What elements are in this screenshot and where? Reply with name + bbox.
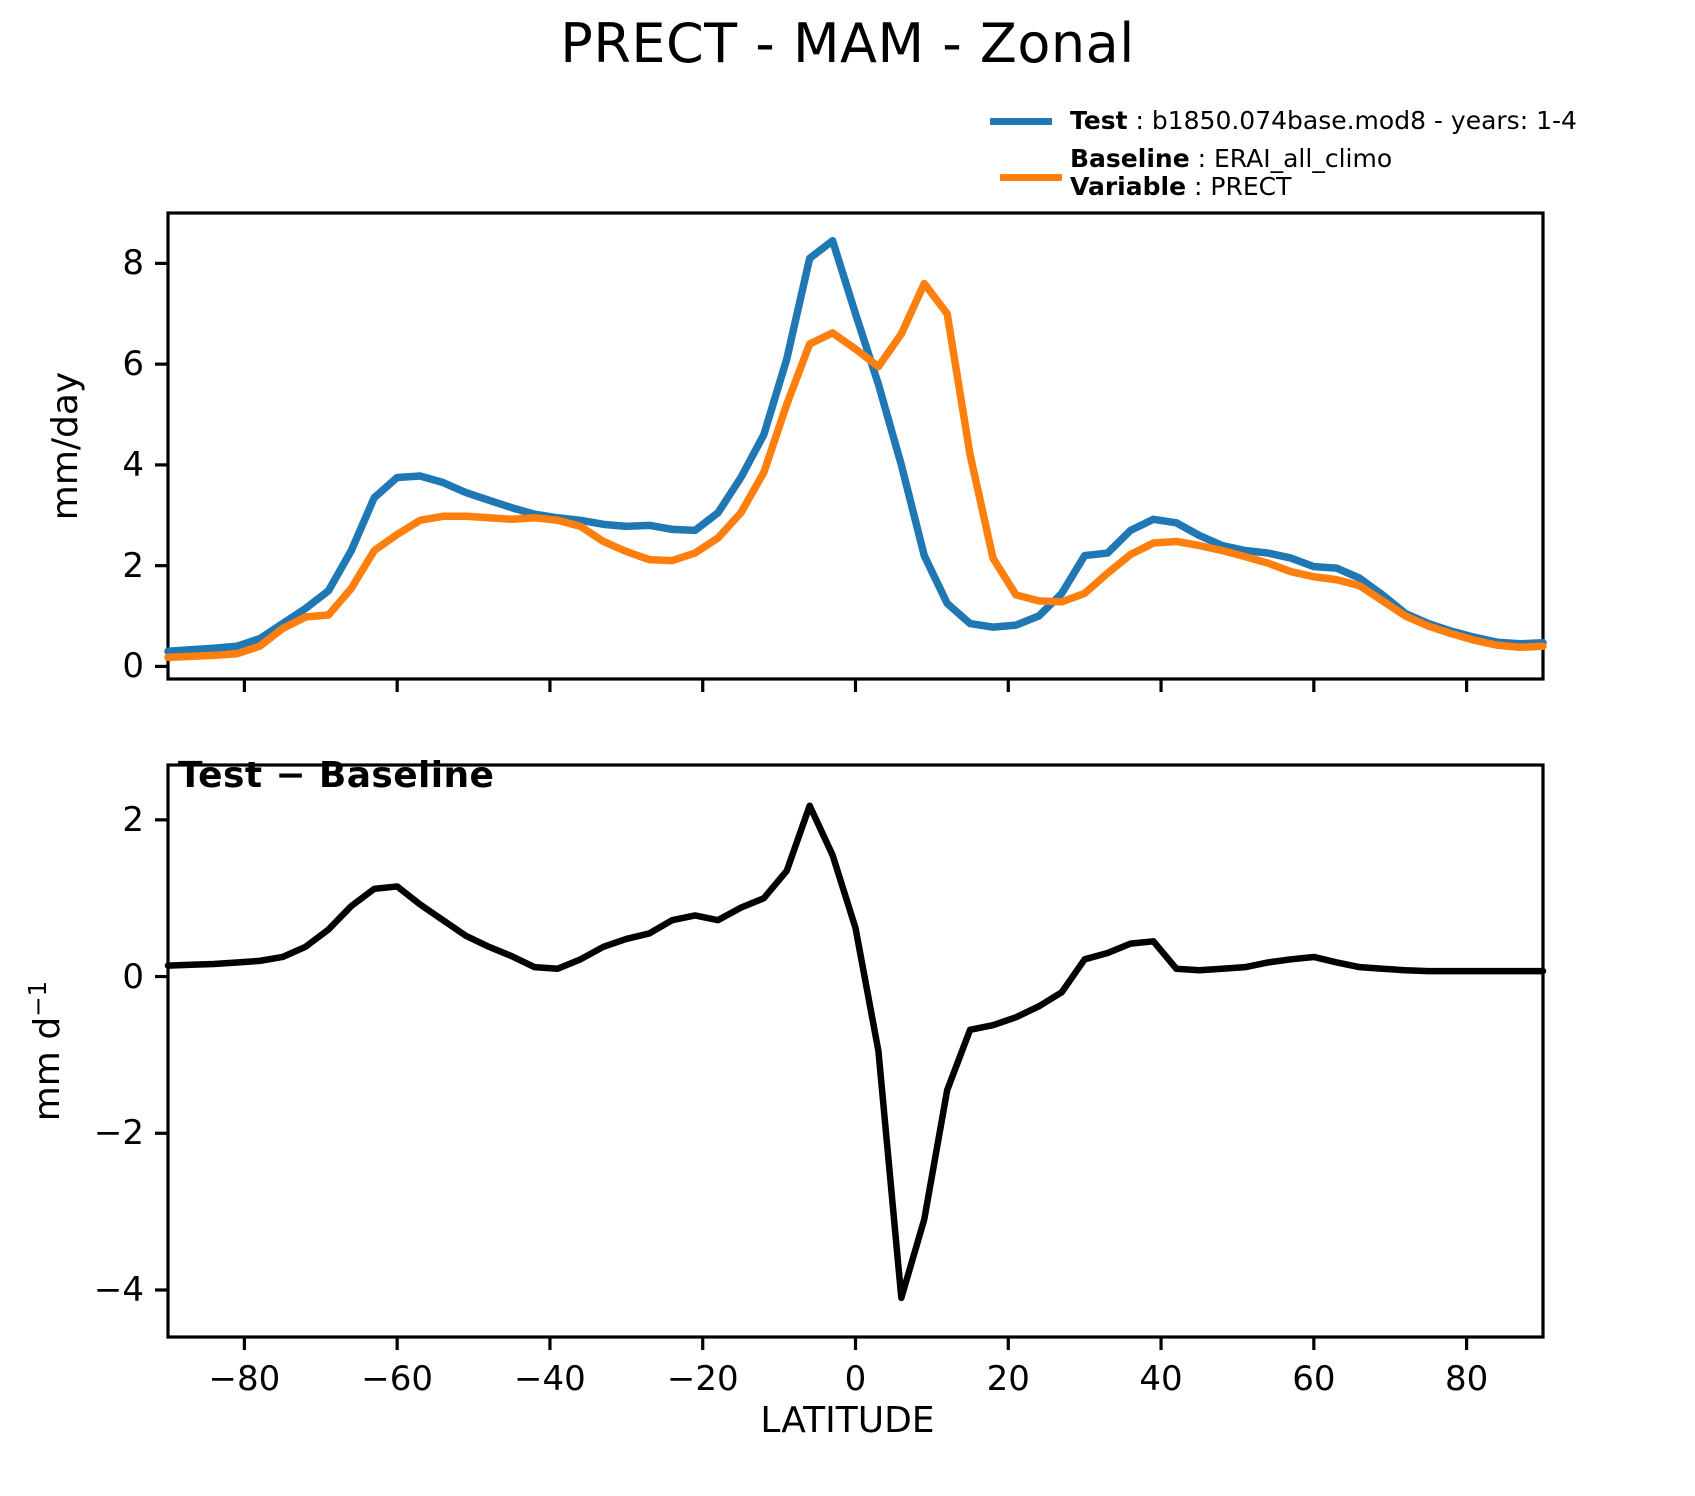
figure-canvas: PRECT - MAM - Zonal Test : b1850.074base…	[0, 0, 1695, 1496]
top-panel	[155, 213, 1543, 692]
series-line-test	[168, 241, 1543, 652]
bottom-panel	[155, 765, 1543, 1350]
series-line-test-baseline	[168, 806, 1543, 1298]
series-line-baseline	[168, 284, 1543, 658]
axes-frame	[168, 213, 1543, 679]
axes-frame	[168, 765, 1543, 1337]
plot-svg	[0, 0, 1695, 1496]
